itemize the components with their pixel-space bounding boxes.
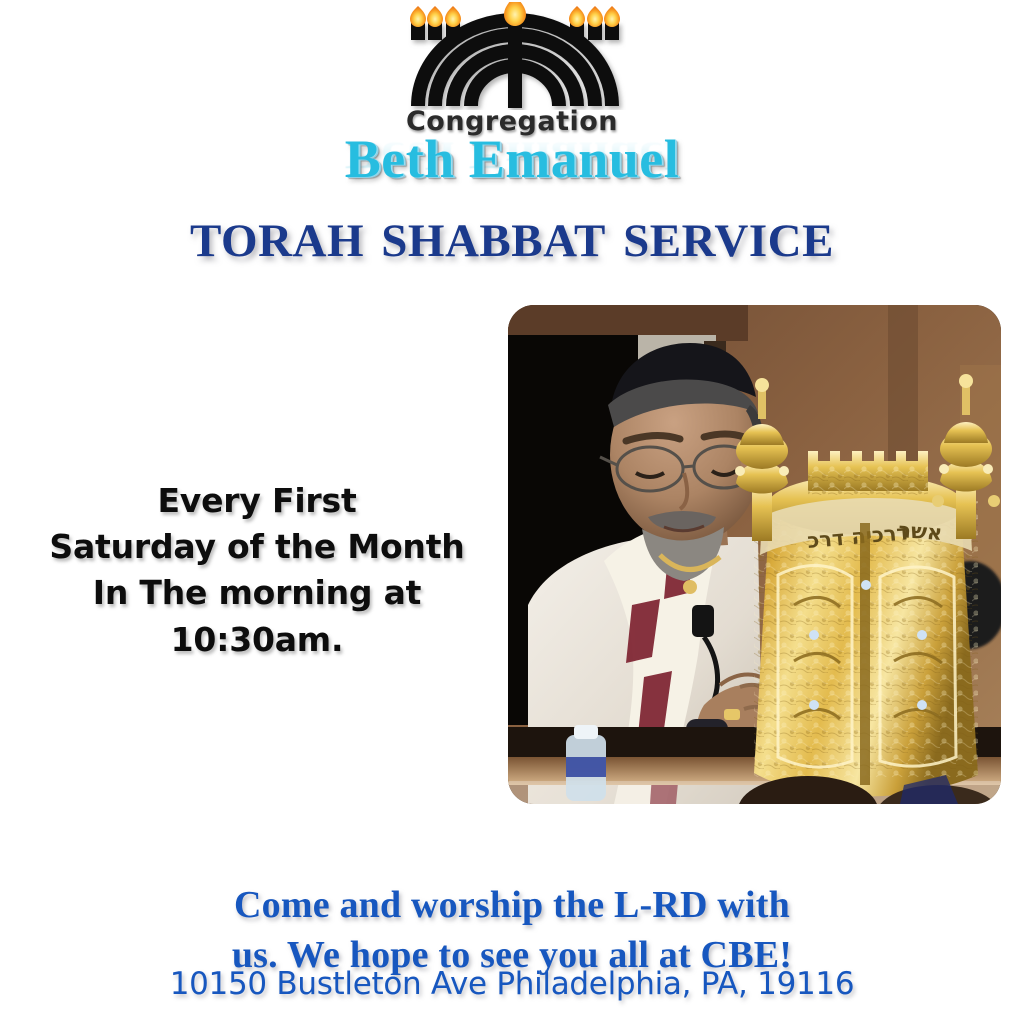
flyer-canvas: Congregation Beth Emanuel Beth Emanuel T… [0,0,1024,1024]
address-text: 10150 Bustleton Ave Philadelphia, PA, 19… [0,966,1024,1002]
torah-service-photo: דרכיה דרכ אשר [508,305,1001,804]
invitation-line-1: Come and worship the L-RD with [0,880,1024,930]
menorah-icon [404,2,626,110]
page-title: Torah Shabbat Service [0,196,1024,273]
congregation-logo: Congregation Beth Emanuel Beth Emanuel [0,0,1024,200]
schedule-line-2: Saturday of the Month [32,524,482,570]
schedule-text: Every First Saturday of the Month In The… [32,478,482,663]
organization-name: Beth Emanuel [0,128,1024,190]
schedule-line-3: In The morning at [32,570,482,616]
schedule-line-4: 10:30am. [32,617,482,663]
svg-text:אשר: אשר [898,518,943,545]
schedule-line-1: Every First [32,478,482,524]
